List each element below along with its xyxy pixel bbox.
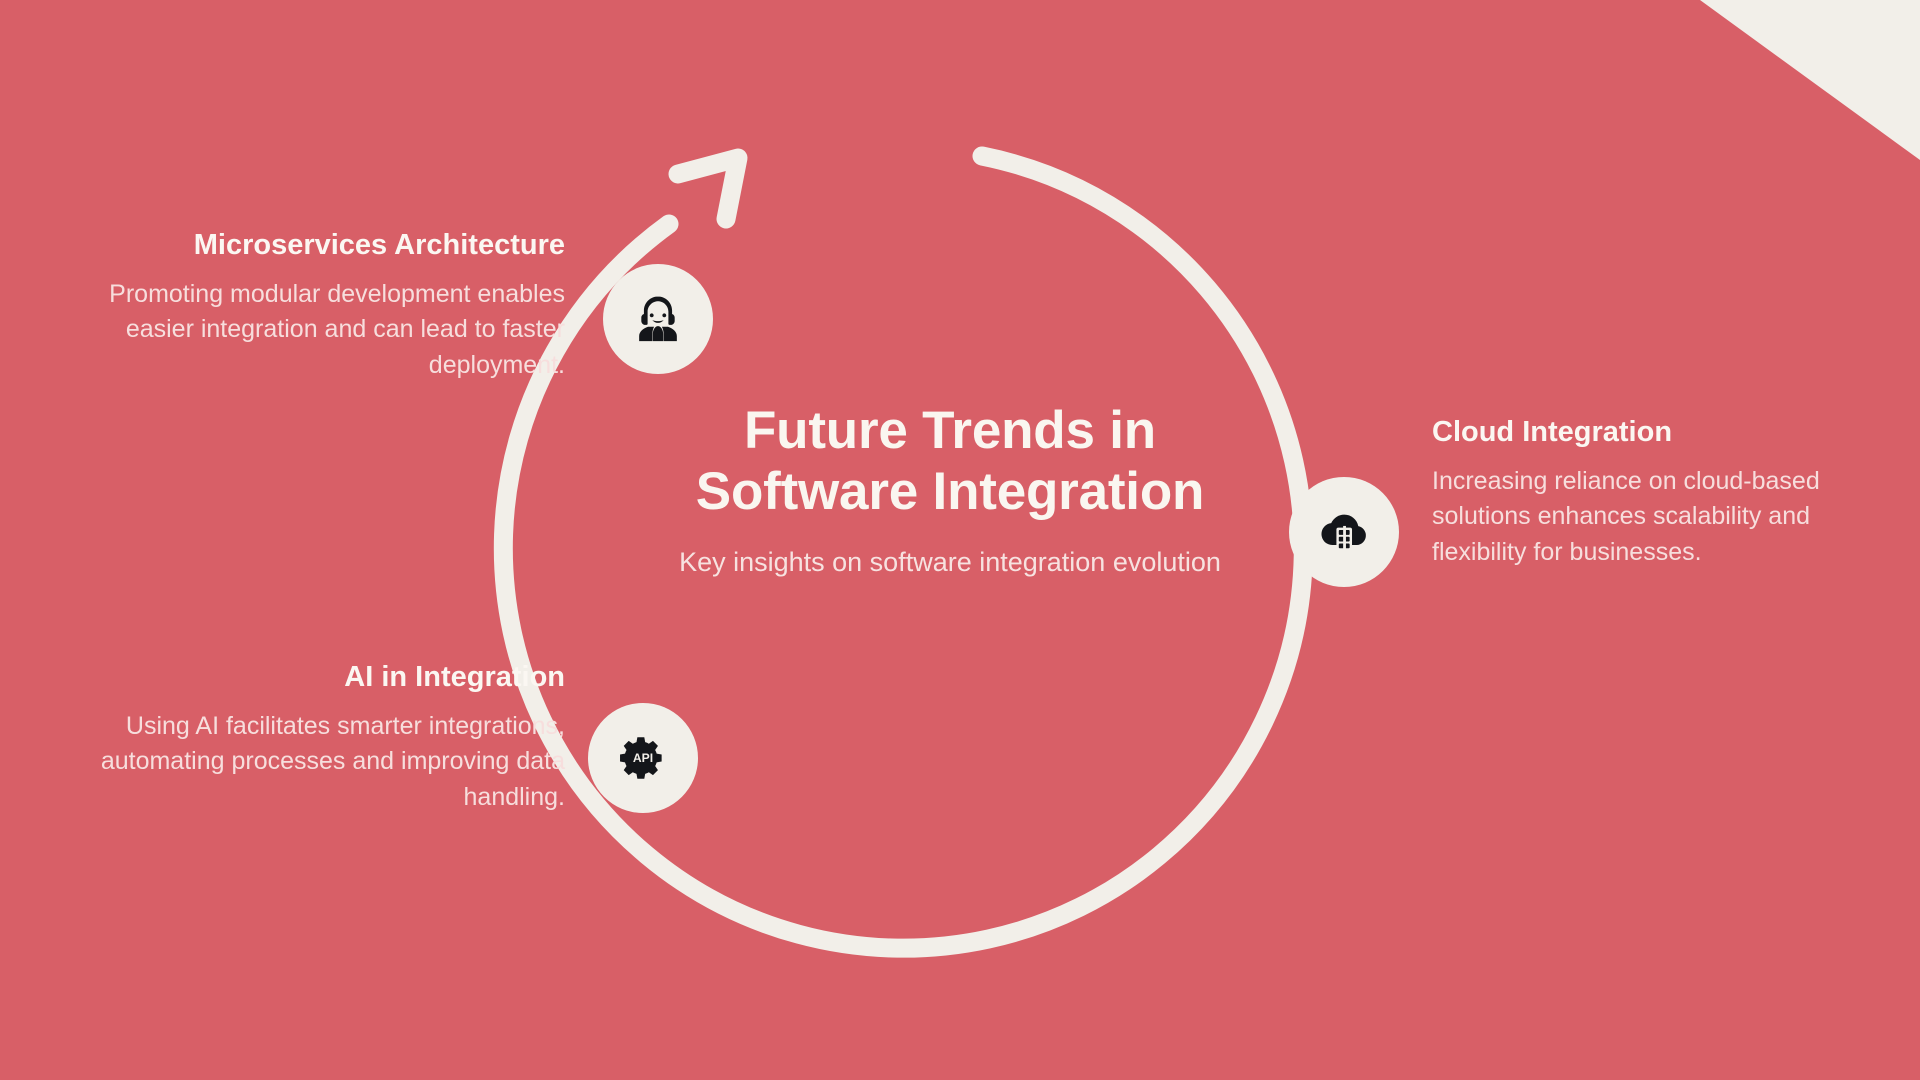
cycle-arrowhead <box>678 158 738 219</box>
corner-accent-triangle <box>1700 0 1920 160</box>
node-microservices[interactable] <box>603 264 713 374</box>
cloud-server-icon <box>1318 506 1370 558</box>
center-title: Future Trends in Software Integration <box>620 400 1280 523</box>
center-title-line-1: Future Trends in <box>744 401 1156 460</box>
center-subtitle: Key insights on software integration evo… <box>620 545 1280 579</box>
block-microservices-title: Microservices Architecture <box>95 228 565 263</box>
svg-text:API: API <box>633 751 653 765</box>
api-gear-icon: API <box>617 732 669 784</box>
block-cloud-body: Increasing reliance on cloud-based solut… <box>1432 464 1832 571</box>
block-cloud: Cloud Integration Increasing reliance on… <box>1432 415 1832 570</box>
center-title-line-2: Software Integration <box>696 462 1204 521</box>
node-ai-integration[interactable]: API <box>588 703 698 813</box>
block-microservices-body: Promoting modular development enables ea… <box>95 277 565 384</box>
block-ai-integration-title: AI in Integration <box>60 660 565 695</box>
slide-canvas: API Future Trends in Software Integratio… <box>0 0 1920 1080</box>
block-microservices: Microservices Architecture Promoting mod… <box>95 228 565 383</box>
block-cloud-title: Cloud Integration <box>1432 415 1832 450</box>
block-ai-integration: AI in Integration Using AI facilitates s… <box>60 660 565 815</box>
node-cloud[interactable] <box>1289 477 1399 587</box>
center-text-group: Future Trends in Software Integration Ke… <box>620 400 1280 579</box>
block-ai-integration-body: Using AI facilitates smarter integration… <box>60 709 565 816</box>
support-agent-icon <box>632 293 684 345</box>
